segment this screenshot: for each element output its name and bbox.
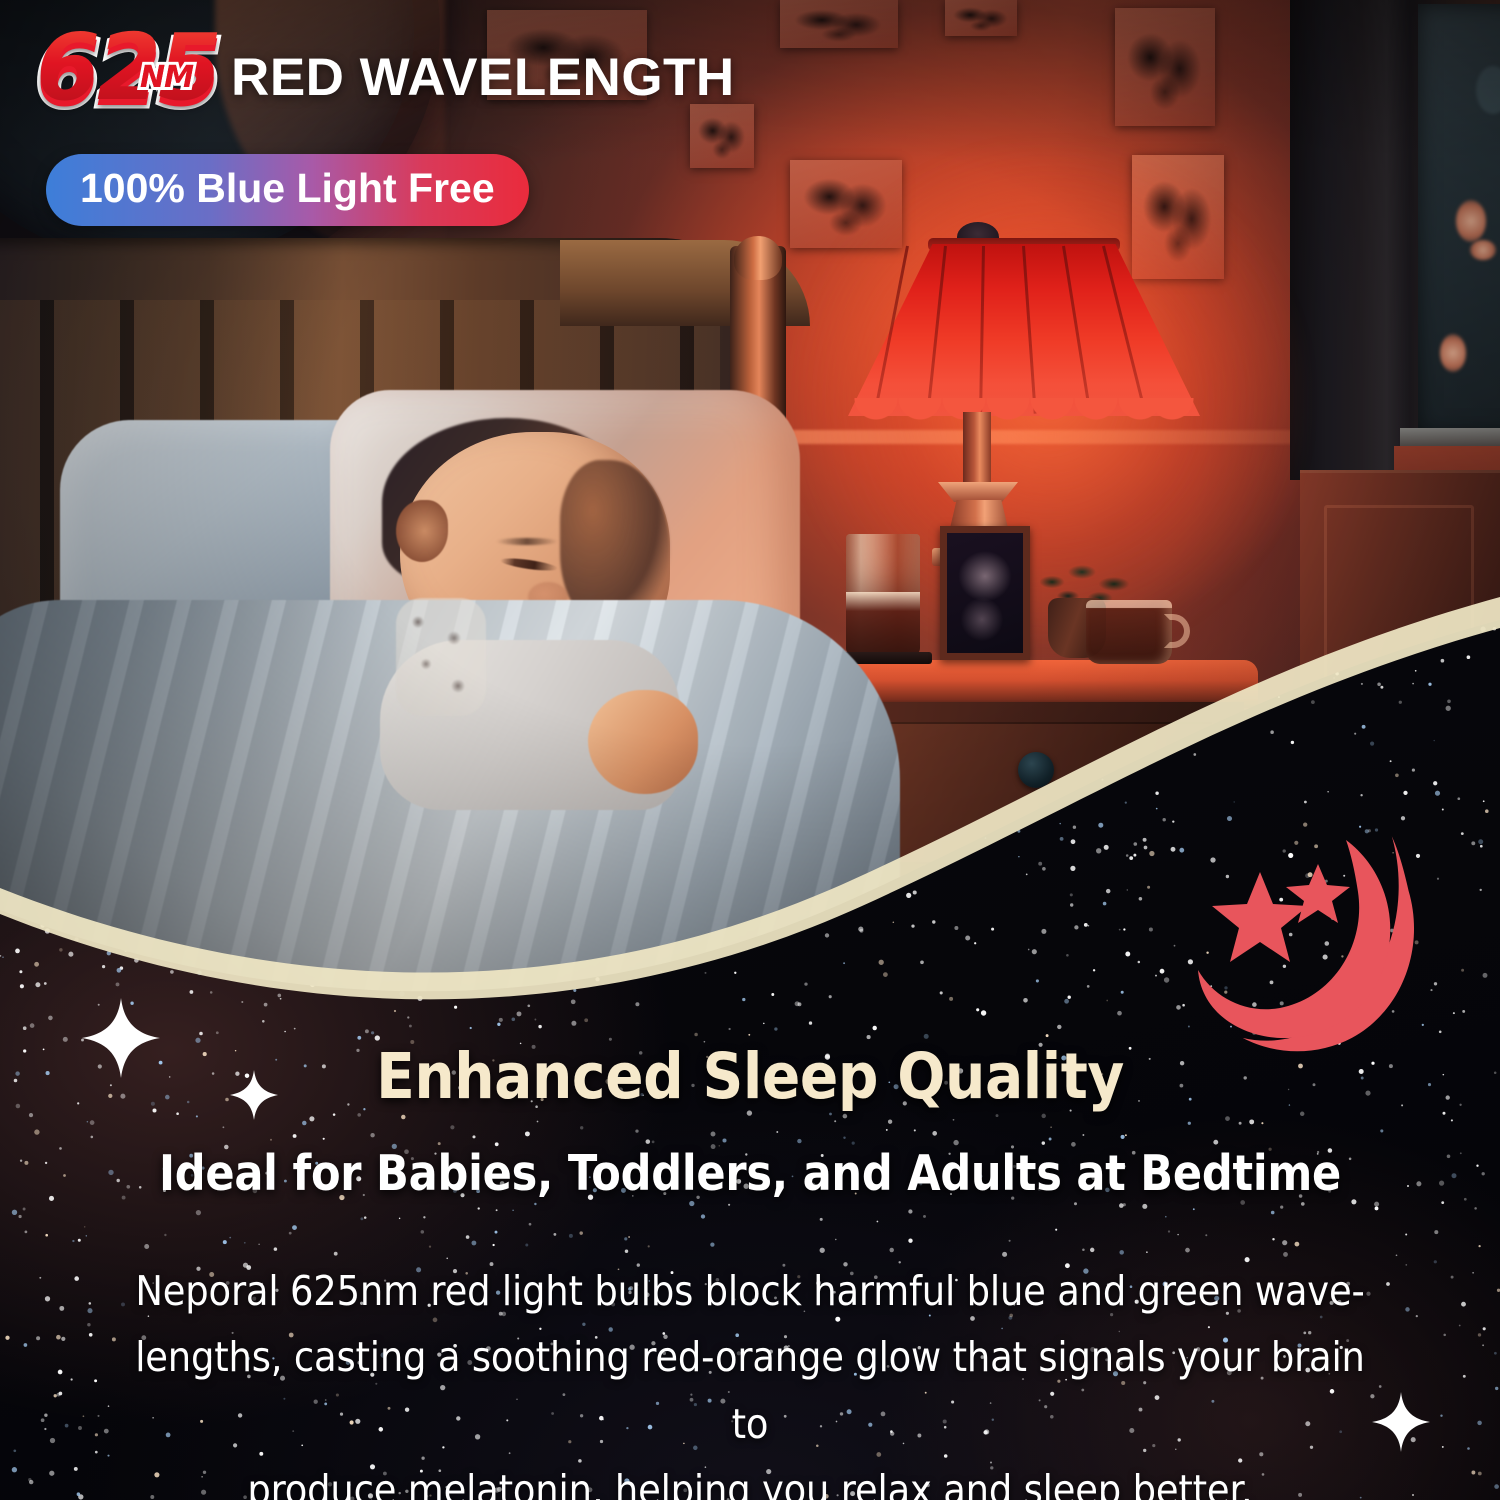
wall-picture-frame — [780, 0, 898, 48]
window-glass — [1418, 4, 1500, 434]
window — [1290, 0, 1500, 480]
picture-frame-on-nightstand — [940, 526, 1030, 660]
feature-text-block: Enhanced Sleep Quality Ideal for Babies,… — [0, 1040, 1500, 1500]
child-ear — [396, 500, 448, 562]
child-eyebrow — [496, 538, 558, 545]
feature-subheading: Ideal for Babies, Toddlers, and Adults a… — [90, 1145, 1410, 1202]
blue-light-free-badge: 100% Blue Light Free — [46, 154, 529, 226]
product-infographic: 625 625 NM NM RED WAVELENGTH 100% Blue L… — [0, 0, 1500, 1500]
paragraph-line: lengths, casting a soothing red-orange g… — [116, 1324, 1385, 1457]
glass-mug — [1086, 600, 1172, 664]
feature-heading: Enhanced Sleep Quality — [75, 1040, 1425, 1113]
bedpost-finial — [734, 236, 782, 280]
feature-paragraph: Neporal 625nm red light bulbs block harm… — [116, 1258, 1385, 1500]
page-title: RED WAVELENGTH — [231, 47, 735, 108]
child-hand — [588, 690, 698, 794]
lamp-neck — [963, 412, 991, 494]
wavelength-logo: 625 625 NM NM — [36, 22, 219, 126]
paragraph-line: produce melatonin, helping you relax and… — [116, 1457, 1385, 1500]
wavelength-unit: NM — [140, 60, 193, 95]
drawer-knob — [1018, 752, 1054, 788]
crescent-moon-icon — [1196, 830, 1436, 1060]
paragraph-line: Neporal 625nm red light bulbs block harm… — [116, 1258, 1385, 1324]
header-row: 625 625 NM NM RED WAVELENGTH — [36, 22, 735, 126]
wall-picture-frame — [945, 0, 1017, 36]
child-sleeve-pattern — [396, 598, 486, 716]
wall-picture-frame — [1115, 8, 1215, 126]
lamp-shade-scallop — [846, 398, 1202, 428]
drinking-glass — [846, 534, 920, 656]
